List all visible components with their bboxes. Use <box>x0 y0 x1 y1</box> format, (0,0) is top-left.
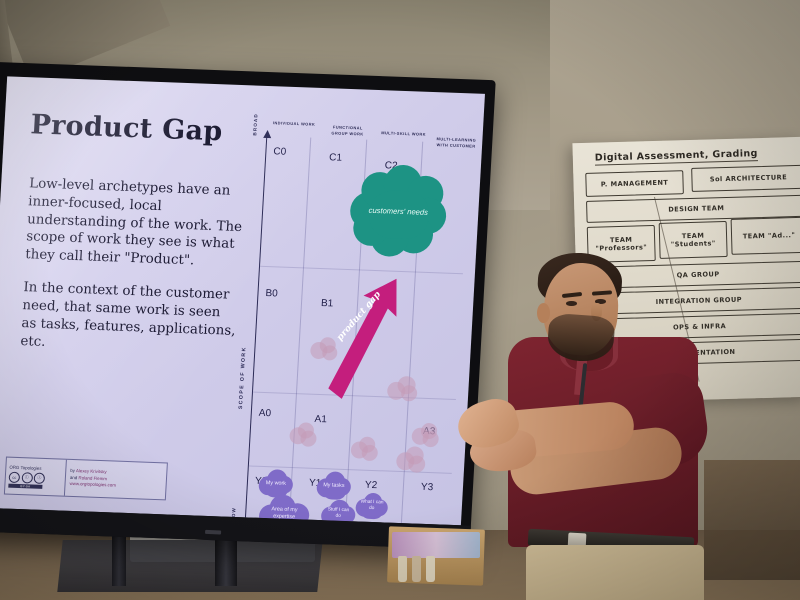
chart-side-annotation-2 <box>445 411 450 413</box>
tv-brand-logo <box>205 530 221 535</box>
chart-column-header-1: FUNCTIONAL GROUP WORK <box>324 124 371 137</box>
faded-cloud-6 <box>394 445 428 474</box>
cc-license-bar: BY-SA <box>8 483 42 488</box>
presenter-eye-left <box>566 301 577 306</box>
customers-needs-cloud: customers' needs <box>348 163 449 258</box>
faded-cloud-5 <box>348 435 379 462</box>
cc-badge-1: ⓘ <box>21 472 33 483</box>
presenter <box>452 255 702 600</box>
slide-paragraph-2: In the context of the customer need, tha… <box>20 279 239 358</box>
chart-cell-a0: A0 <box>258 408 271 419</box>
slide: Product Gap Low-level archetypes have an… <box>0 76 485 525</box>
bottle-2 <box>412 556 421 582</box>
archetype-cloud-my-tasks: My tasks <box>316 470 352 501</box>
org-topologies-chart: BROAD NARROW SCOPE OF WORK SHALLOW DEEP … <box>225 119 479 525</box>
chart-side-annotation-1 <box>454 245 459 247</box>
chart-y-axis <box>244 136 268 525</box>
chart-cell-b0: B0 <box>265 288 278 299</box>
chart-column-header-2: MULTI-SKILL WORK <box>380 130 426 137</box>
chart-y-axis-title: SCOPE OF WORK <box>238 346 248 409</box>
credit-author-1: Alexey Krivitsky <box>76 468 107 474</box>
credit-authors-block: by Alexey Krivitsky and Roland Flemm www… <box>65 468 166 491</box>
credit-brand-block: ORG Topologies cc ⓘ ⓘ BY-SA <box>5 458 67 496</box>
credit-author-2: Roland Flemm <box>78 475 107 481</box>
credit-and-label: and <box>70 475 78 480</box>
product-gap-arrow: product gap <box>326 274 403 404</box>
faded-cloud-3 <box>409 421 440 448</box>
slide-body: Low-level archetypes have an inner-focus… <box>19 175 245 373</box>
background-shelf <box>704 460 800 580</box>
chart-column-header-0: INDIVIDUAL WORK <box>271 120 317 127</box>
slide-paragraph-1: Low-level archetypes have an inner-focus… <box>25 175 245 272</box>
chart-column-header-3: MULTI-LEARNING WITH CUSTOMER <box>433 136 480 149</box>
chart-y-axis-arrow <box>263 130 271 138</box>
room-scene: Digital Assessment, Grading P. MANAGEMEN… <box>0 0 800 600</box>
chart-gridline-h1 <box>259 266 463 274</box>
flipchart-box-team-admins: TEAM "Ad..." <box>731 217 800 255</box>
flipchart-box-sol-architecture: Sol ARCHITECTURE <box>691 165 800 192</box>
cc-badge-2: ⓘ <box>34 472 46 483</box>
archetype-cloud-what-i-can-do: What I can do <box>355 491 389 520</box>
cc-badge-0: cc <box>9 471 21 482</box>
bottle-1 <box>398 556 407 582</box>
chart-cell-c0: C0 <box>273 146 286 157</box>
chart-cell-y2: Y2 <box>365 480 378 491</box>
flipchart-box-p-management: P. MANAGEMENT <box>585 170 684 197</box>
archetype-cloud-label-2: What I can do <box>355 491 389 520</box>
creative-commons-icon: cc ⓘ ⓘ <box>9 471 66 484</box>
flipchart-box-team-students: TEAM "Students" <box>659 221 728 259</box>
tv-screen: Product Gap Low-level archetypes have an… <box>0 76 485 525</box>
chart-cell-y3: Y3 <box>421 482 434 493</box>
chart-y-axis-high-label: BROAD <box>252 113 258 135</box>
faded-cloud-4 <box>287 421 318 448</box>
presenter-ear <box>537 303 550 323</box>
slide-title: Product Gap <box>30 109 224 147</box>
chart-cell-c1: C1 <box>329 152 342 163</box>
presentation-display: Product Gap Low-level archetypes have an… <box>0 62 496 550</box>
credit-by-label: by <box>70 468 75 473</box>
bottle-3 <box>426 556 435 582</box>
flipchart-title: Digital Assessment, Grading <box>595 148 758 166</box>
slide-credit-box: ORG Topologies cc ⓘ ⓘ BY-SA by Alexey Kr… <box>4 457 168 501</box>
archetype-cloud-label-1: My tasks <box>316 470 352 501</box>
tv-stand-base <box>57 540 322 592</box>
presenter-pants <box>526 545 704 600</box>
credit-brand: ORG Topologies <box>9 464 65 471</box>
